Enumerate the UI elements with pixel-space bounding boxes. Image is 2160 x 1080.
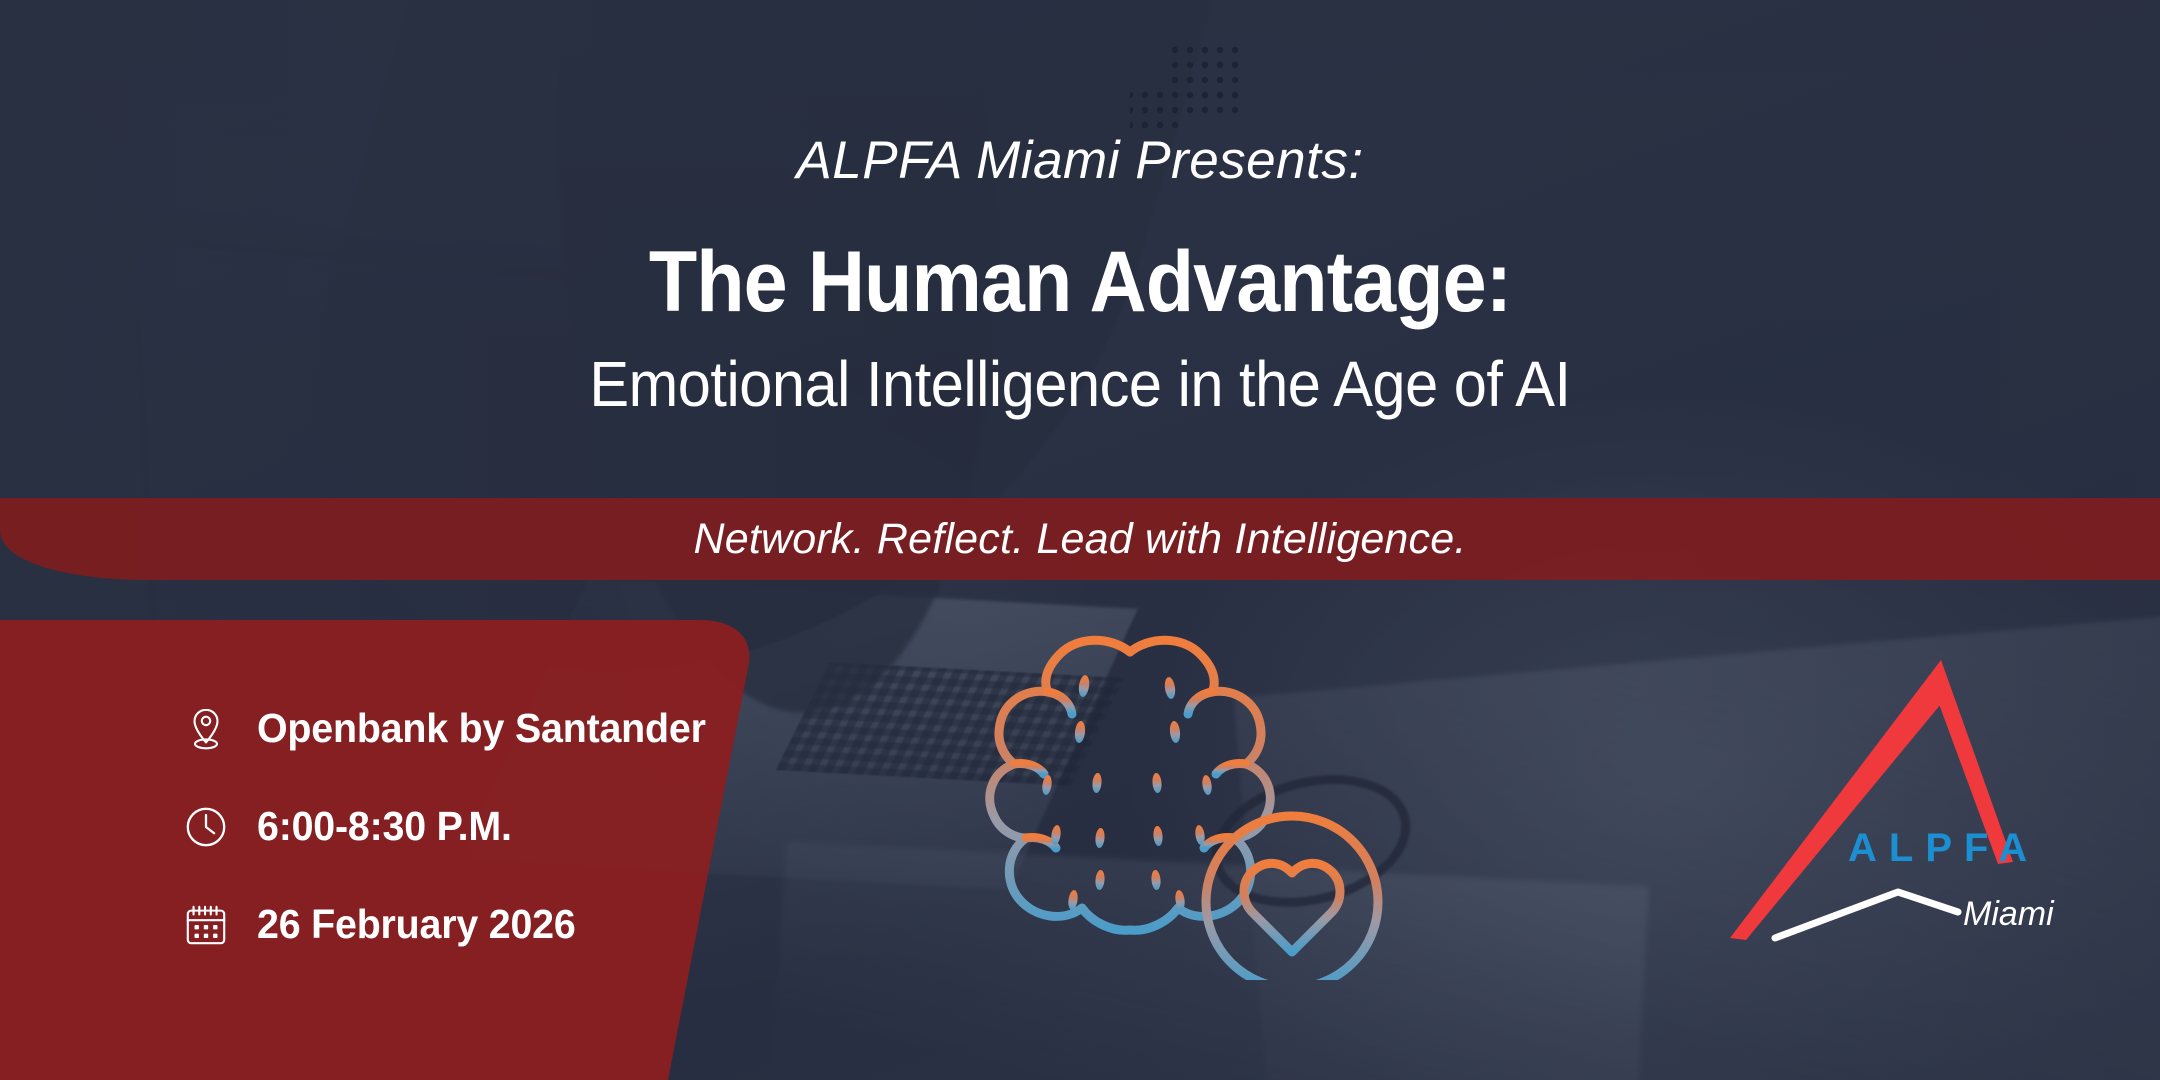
event-flyer: ALPFA Miami Presents: The Human Advantag… bbox=[0, 0, 2160, 1080]
logo-swoosh bbox=[1775, 892, 1958, 938]
detail-label-date: 26 February 2026 bbox=[257, 901, 576, 948]
detail-label-time: 6:00-8:30 P.M. bbox=[257, 803, 512, 850]
location-pin-icon bbox=[183, 706, 229, 752]
page-subtitle: Emotional Intelligence in the Age of AI bbox=[76, 351, 2085, 418]
presenter-line: ALPFA Miami Presents: bbox=[0, 134, 2160, 187]
event-details-list: Openbank by Santander 6:00-8:30 P.M. bbox=[183, 705, 724, 948]
brain-heart-icon bbox=[960, 630, 1400, 980]
detail-row-time: 6:00-8:30 P.M. bbox=[183, 803, 724, 850]
header-text-block: ALPFA Miami Presents: The Human Advantag… bbox=[0, 0, 2160, 418]
logo-chapter: Miami bbox=[1963, 897, 2054, 931]
detail-row-date: 26 February 2026 bbox=[183, 901, 724, 948]
alpfa-miami-logo: ALPFA Miami bbox=[1700, 630, 2160, 960]
detail-label-venue: Openbank by Santander bbox=[257, 705, 706, 752]
logo-wordmark: ALPFA bbox=[1848, 828, 2039, 868]
calendar-icon bbox=[183, 902, 229, 948]
tagline: Network. Reflect. Lead with Intelligence… bbox=[0, 498, 2160, 580]
clock-icon bbox=[183, 804, 229, 850]
detail-row-venue: Openbank by Santander bbox=[183, 705, 724, 752]
page-title: The Human Advantage: bbox=[86, 239, 2073, 327]
